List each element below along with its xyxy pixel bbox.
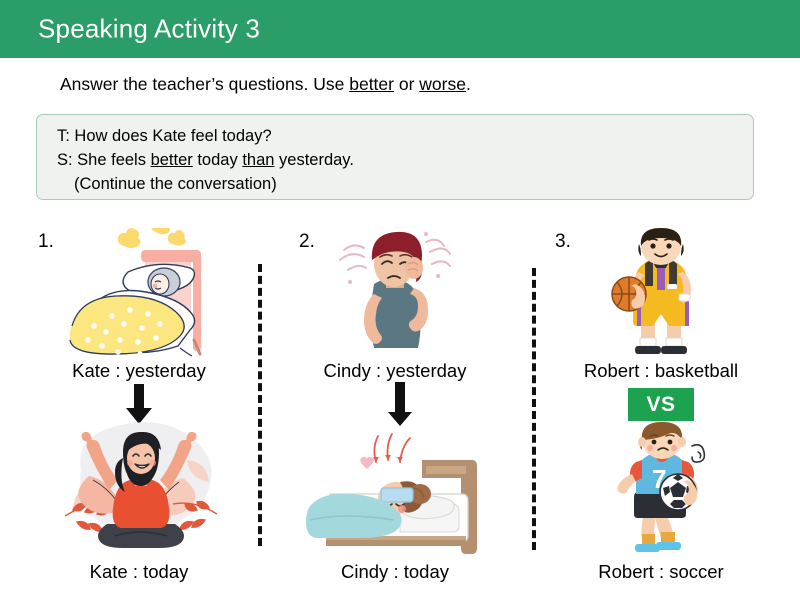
page-title: Speaking Activity 3: [38, 14, 260, 45]
dialogue-lines: T: How does Kate feel today? S: She feel…: [57, 124, 354, 196]
instruction-middle: or: [394, 74, 419, 94]
instruction-word-worse: worse: [419, 74, 466, 94]
student-line-suffix: yesterday.: [274, 151, 353, 169]
caption-cindy-yesterday: Cindy : yesterday: [324, 360, 467, 382]
caption-kate-today: Kate : today: [90, 561, 189, 583]
dialogue-note-line: (Continue the conversation): [57, 172, 354, 196]
instruction-suffix: .: [466, 74, 471, 94]
dialogue-student-line: S: She feels better today than yesterday…: [57, 148, 354, 172]
person-with-headache-icon: [330, 228, 458, 363]
student-line-middle: today: [193, 151, 243, 169]
boy-soccer-player-icon: 7: [606, 422, 718, 559]
caption-cindy-today: Cindy : today: [341, 561, 449, 583]
vs-badge: VS: [628, 388, 694, 421]
happy-woman-arms-raised-icon: [55, 412, 227, 557]
caption-robert-soccer: Robert : soccer: [598, 561, 723, 583]
instruction-word-better: better: [349, 74, 394, 94]
student-word-better: better: [151, 151, 193, 169]
caption-kate-yesterday: Kate : yesterday: [72, 360, 206, 382]
column-divider-2: [532, 268, 536, 550]
caption-robert-basketball: Robert : basketball: [584, 360, 738, 382]
down-arrow-icon-cindy: [387, 382, 413, 431]
column-divider-1: [258, 264, 262, 546]
instruction-text: Answer the teacher’s questions. Use bett…: [60, 74, 471, 95]
boy-basketball-player-icon: [605, 228, 717, 365]
dialogue-box: T: How does Kate feel today? S: She feel…: [36, 114, 754, 200]
item-number-3: 3.: [555, 231, 571, 253]
header-bar: Speaking Activity 3: [0, 0, 800, 58]
person-sleeping-in-bed-icon: [52, 228, 232, 365]
student-word-than: than: [242, 151, 274, 169]
instruction-prefix: Answer the teacher’s questions. Use: [60, 74, 349, 94]
dialogue-teacher-line: T: How does Kate feel today?: [57, 124, 354, 148]
student-line-prefix: S: She feels: [57, 151, 151, 169]
person-sick-in-bed-fever-icon: [304, 432, 490, 561]
item-number-2: 2.: [299, 231, 315, 253]
